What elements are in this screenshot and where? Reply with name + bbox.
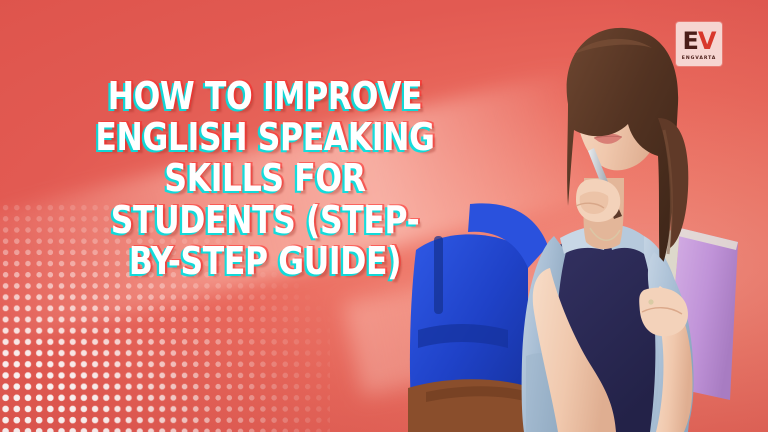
headline-line-4: STUDENTS (STEP- [78,200,452,241]
page-title: HOW TO IMPROVE ENGLISH SPEAKING SKILLS F… [78,76,452,282]
logo-letter-v: V [698,27,716,55]
logo-letter-e: E [683,27,698,55]
headline-line-2: ENGLISH SPEAKING [78,117,452,158]
logo-monogram: EV [683,29,716,53]
headline-line-1: HOW TO IMPROVE [78,76,452,117]
headline-block: HOW TO IMPROVE ENGLISH SPEAKING SKILLS F… [62,76,468,282]
logo-wordmark: ENGVARTA [682,56,716,61]
engvarta-logo[interactable]: EV ENGVARTA [676,22,722,66]
headline-line-5: BY-STEP GUIDE) [78,241,452,282]
headline-line-3: SKILLS FOR [78,158,452,199]
banner-canvas: HOW TO IMPROVE ENGLISH SPEAKING SKILLS F… [0,0,768,432]
